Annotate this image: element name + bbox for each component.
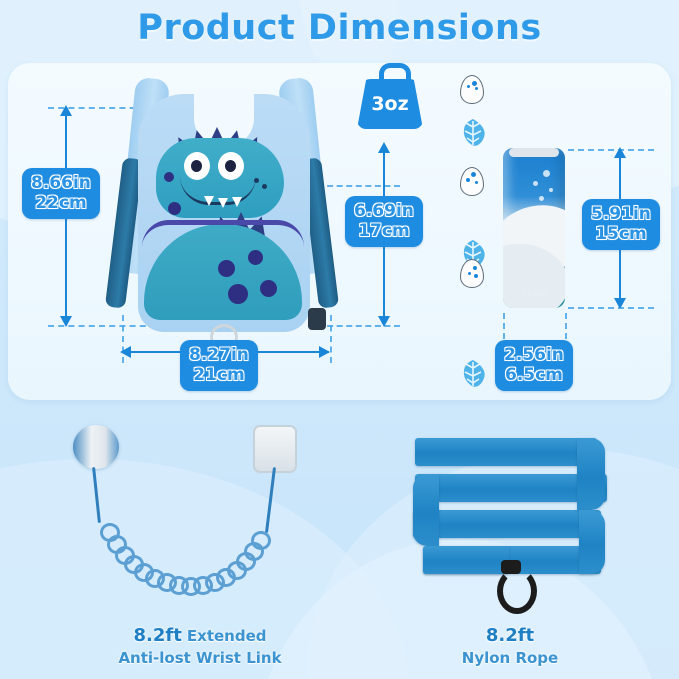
reference-can: 333ml <box>503 148 565 308</box>
wristband-left <box>73 425 119 469</box>
webbing-fold-right-2 <box>579 510 605 574</box>
infographic-canvas: Product Dimensions <box>0 0 679 679</box>
badge-can-width-imperial: 2.56in <box>504 345 564 365</box>
arrowhead-down-backpack-height <box>60 316 72 327</box>
coil-ring <box>251 531 271 550</box>
arrowhead-up-body-height <box>378 142 390 153</box>
badge-backpack-width: 8.27in 21cm <box>180 340 258 391</box>
guide-top-can <box>568 149 654 151</box>
badge-body-height-metric: 17cm <box>354 221 414 241</box>
can-bubble-3 <box>549 188 553 192</box>
can-bubble-1 <box>543 170 550 177</box>
arrowhead-left-backpack-width <box>120 346 131 358</box>
arrowhead-up-can-height <box>614 147 626 158</box>
strap-buckle <box>308 308 326 330</box>
page-title: Product Dimensions <box>0 8 679 48</box>
arrowhead-up-backpack-height <box>60 105 72 116</box>
guide-bottom-can <box>568 307 654 309</box>
pouch-dot-3 <box>228 284 248 304</box>
webbing-strip-1 <box>415 438 597 466</box>
can-volume-label: 333ml <box>503 289 565 298</box>
arrowhead-down-body-height <box>378 316 390 327</box>
vest-dot-1 <box>168 202 181 215</box>
can-bubble-4 <box>539 196 544 201</box>
badge-can-height-metric: 15cm <box>591 224 651 244</box>
badge-backpack-width-metric: 21cm <box>189 365 249 385</box>
badge-backpack-height: 8.66in 22cm <box>22 168 100 219</box>
wire-lead-right <box>265 467 276 533</box>
wrist-link-qualifier: Extended <box>187 627 267 645</box>
can-lid <box>509 148 559 157</box>
weight-value: 3oz <box>355 93 425 115</box>
arrowhead-right-backpack-width <box>319 346 330 358</box>
webbing-fold-left-1 <box>413 474 439 546</box>
dimensions-card: 333ml 3oz 8.66in 22cm 6.69in 17cm 8.27in… <box>8 63 671 400</box>
nylon-rope-length: 8.2ft <box>486 625 534 646</box>
nylon-rope-label: Nylon Rope <box>390 647 630 669</box>
badge-can-width-metric: 6.5cm <box>504 365 564 385</box>
decor-egg-2 <box>460 167 484 196</box>
decor-leaf-1 <box>458 118 486 146</box>
dinosaur-nostril-2 <box>262 184 267 189</box>
caption-nylon-rope: 8.2ft Nylon Rope <box>390 625 630 669</box>
decor-egg-3 <box>460 259 484 288</box>
decor-egg-1 <box>460 75 484 104</box>
vest-dot-2 <box>164 172 174 182</box>
pouch-dot-1 <box>218 260 235 277</box>
caption-wrist-link: 8.2ft Extended Anti-lost Wrist Link <box>40 625 360 669</box>
nylon-rope-illustration <box>405 430 635 615</box>
pouch-dot-2 <box>248 250 263 265</box>
pouch-zipper <box>142 220 304 247</box>
weight-badge: 3oz <box>355 63 425 129</box>
wire-lead-left <box>92 467 101 523</box>
badge-backpack-height-metric: 22cm <box>31 193 91 213</box>
badge-can-height-imperial: 5.91in <box>591 204 651 224</box>
badge-body-height: 6.69in 17cm <box>345 196 423 247</box>
wrist-link-label: Anti-lost Wrist Link <box>40 647 360 669</box>
webbing-strip-3 <box>413 510 601 538</box>
pouch-dot-4 <box>260 280 277 297</box>
hook-gate <box>497 568 537 614</box>
badge-can-height: 5.91in 15cm <box>582 199 660 250</box>
can-bubble-2 <box>533 181 538 186</box>
decor-leaf-3 <box>458 359 486 387</box>
wrist-link-length: 8.2ft <box>133 625 181 646</box>
backpack-illustration <box>108 72 340 344</box>
badge-body-height-imperial: 6.69in <box>354 201 414 221</box>
webbing-fold-right-1 <box>577 438 605 510</box>
wrist-link-illustration <box>55 425 345 615</box>
badge-can-width: 2.56in 6.5cm <box>495 340 573 391</box>
badge-backpack-height-imperial: 8.66in <box>31 173 91 193</box>
wristband-right-buckle <box>253 425 297 473</box>
badge-backpack-width-imperial: 8.27in <box>189 345 249 365</box>
arrowhead-down-can-height <box>614 298 626 309</box>
swivel-hook-icon <box>493 560 529 606</box>
